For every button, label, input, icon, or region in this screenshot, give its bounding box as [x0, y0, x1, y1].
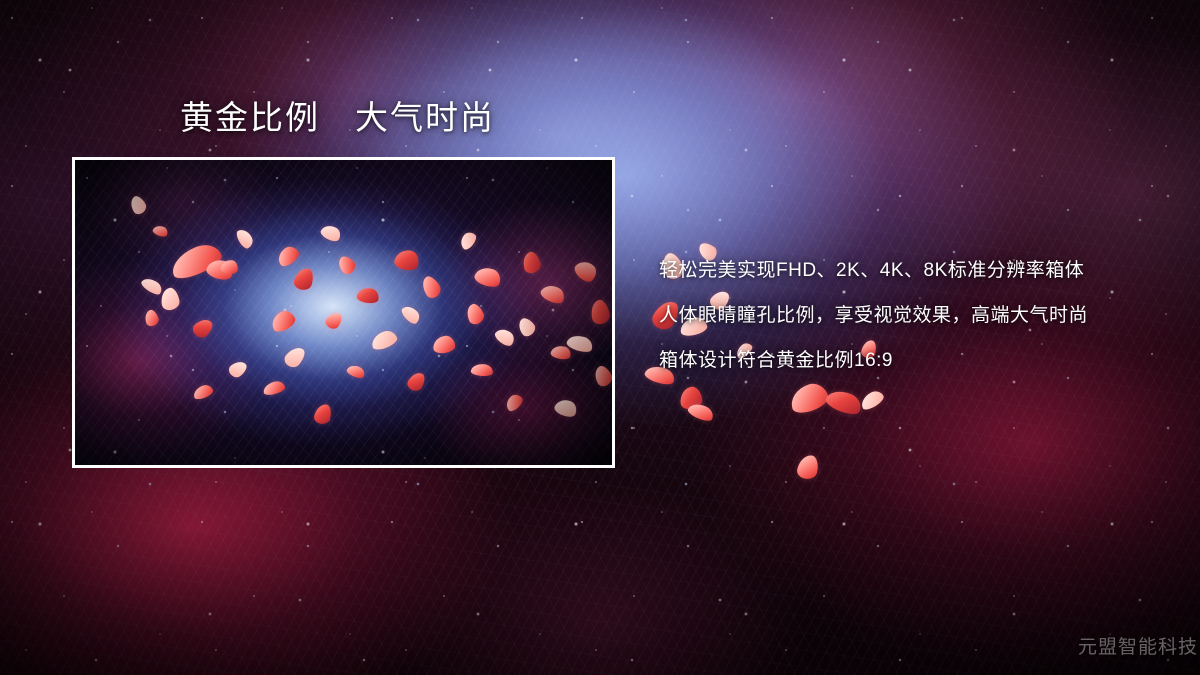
body-line-1: 轻松完美实现FHD、2K、4K、8K标准分辨率箱体: [659, 255, 1088, 282]
page-title: 黄金比例 大气时尚: [180, 100, 495, 136]
body-line-3: 箱体设计符合黄金比例16:9: [659, 345, 1088, 372]
body-line-2: 人体眼睛瞳孔比例，享受视觉效果，高端大气时尚: [659, 300, 1088, 327]
framed-picture: [72, 157, 615, 468]
picture-vignette: [75, 160, 612, 465]
petal: [686, 400, 715, 423]
petal: [787, 380, 831, 416]
body-text-block: 轻松完美实现FHD、2K、4K、8K标准分辨率箱体 人体眼睛瞳孔比例，享受视觉效…: [659, 255, 1088, 372]
slide-canvas: 黄金比例 大气时尚 轻松完美实现FHD、2K、4K、8K标准分辨率箱体 人体眼睛…: [0, 0, 1200, 675]
petal: [824, 386, 865, 418]
petal: [858, 388, 886, 412]
petal: [796, 453, 821, 481]
petal: [679, 386, 704, 411]
watermark: 元盟智能科技: [1078, 632, 1198, 659]
picture-inner: [75, 160, 612, 465]
